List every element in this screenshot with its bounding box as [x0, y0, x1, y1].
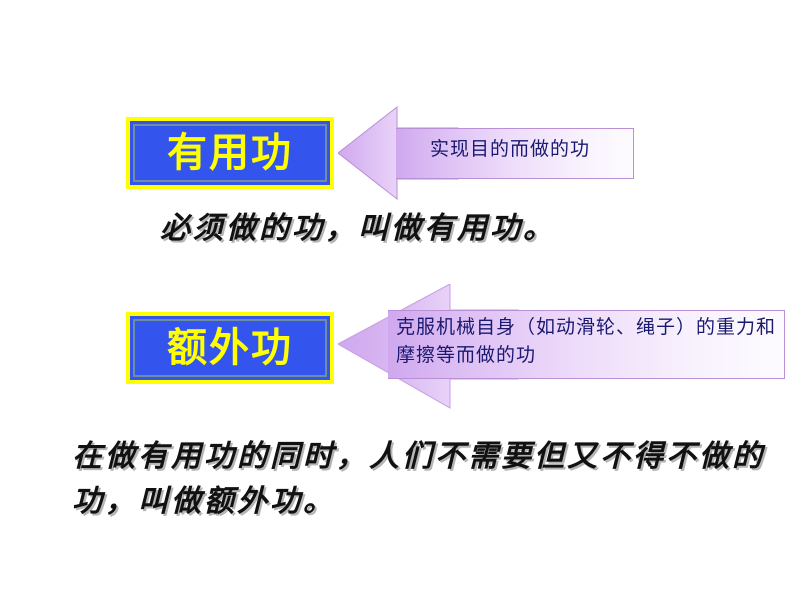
definition-useful-work: 必须做的功，叫做有用功。 [160, 206, 720, 251]
label-box-extra-work-text: 额外功 [167, 328, 293, 368]
arrow-extra-work-text: 克服机械自身（如动滑轮、绳子）的重力和摩擦等而做的功 [396, 314, 780, 369]
label-box-useful-work-text: 有用功 [167, 133, 293, 173]
slide-canvas: 有用功 实现目的而做的功 必须做的功，叫做有用功。 额外功 [0, 0, 800, 600]
arrow-useful-work-text: 实现目的而做的功 [390, 136, 630, 164]
label-box-extra-work: 额外功 [126, 312, 334, 384]
arrow-extra-work: 克服机械自身（如动滑轮、绳子）的重力和摩擦等而做的功 [338, 284, 790, 410]
arrow-useful-work: 实现目的而做的功 [338, 105, 638, 201]
definition-extra-work: 在做有用功的同时，人们不需要但又不得不做的功，叫做额外功。 [72, 434, 772, 524]
label-box-useful-work: 有用功 [126, 117, 334, 189]
